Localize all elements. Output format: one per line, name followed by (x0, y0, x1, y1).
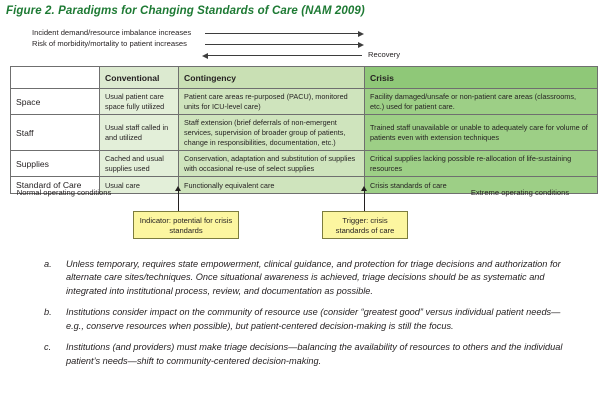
cell-supplies-contingency: Conservation, adaptation and substitutio… (179, 151, 365, 177)
axis-arrow-block: Incident demand/resource imbalance incre… (0, 28, 607, 64)
demand-axis-label: Incident demand/resource imbalance incre… (32, 28, 191, 37)
demand-arrow-head-icon (358, 31, 364, 37)
list-item: b. Institutions consider impact on the c… (44, 306, 564, 333)
cell-supplies-conventional: Cached and usual supplies used (100, 151, 179, 177)
cell-standard-contingency: Functionally equivalent care (179, 177, 365, 194)
row-label-space: Space (11, 89, 100, 115)
table-row: Space Usual patient care space fully uti… (11, 89, 598, 115)
column-header-blank (11, 67, 100, 89)
demand-arrow-line (205, 33, 362, 34)
note-marker-b: b. (44, 306, 66, 333)
cell-space-conventional: Usual patient care space fully utilized (100, 89, 179, 115)
paradigms-table: Conventional Contingency Crisis Space Us… (10, 66, 598, 194)
cell-space-crisis: Facility damaged/unsafe or non-patient c… (365, 89, 598, 115)
trigger-connector-arrow-icon (361, 186, 367, 191)
note-text-b: Institutions consider impact on the comm… (66, 306, 564, 333)
column-header-conventional: Conventional (100, 67, 179, 89)
risk-arrow-head-icon (358, 42, 364, 48)
normal-conditions-label: Normal operating conditions (14, 188, 114, 197)
indicator-connector-arrow-icon (175, 186, 181, 191)
indicator-connector-line (178, 189, 179, 213)
cell-space-contingency: Patient care areas re-purposed (PACU), m… (179, 89, 365, 115)
row-label-supplies: Supplies (11, 151, 100, 177)
risk-axis-label: Risk of morbidity/mortality to patient i… (32, 39, 187, 48)
recovery-axis-label: Recovery (368, 50, 400, 59)
list-item: a. Unless temporary, requires state empo… (44, 258, 564, 298)
callout-indicator: Indicator: potential for crisis standard… (133, 211, 239, 239)
table-header-row: Conventional Contingency Crisis (11, 67, 598, 89)
note-marker-a: a. (44, 258, 66, 298)
cell-supplies-crisis: Critical supplies lacking possible re-al… (365, 151, 598, 177)
cell-staff-conventional: Usual staff called in and utilized (100, 115, 179, 151)
note-marker-c: c. (44, 341, 66, 368)
recovery-arrow-head-icon (202, 53, 208, 59)
note-text-c: Institutions (and providers) must make t… (66, 341, 564, 368)
trigger-connector-line (364, 189, 365, 213)
figure-notes-list: a. Unless temporary, requires state empo… (44, 258, 564, 376)
extreme-conditions-label: Extreme operating conditions (460, 188, 580, 197)
cell-staff-crisis: Trained staff unavailable or unable to a… (365, 115, 598, 151)
column-header-contingency: Contingency (179, 67, 365, 89)
note-text-a: Unless temporary, requires state empower… (66, 258, 564, 298)
table-row: Supplies Cached and usual supplies used … (11, 151, 598, 177)
cell-staff-contingency: Staff extension (brief deferrals of non-… (179, 115, 365, 151)
column-header-crisis: Crisis (365, 67, 598, 89)
risk-arrow-line (205, 44, 362, 45)
list-item: c. Institutions (and providers) must mak… (44, 341, 564, 368)
callout-trigger: Trigger: crisis standards of care (322, 211, 408, 239)
table-row: Staff Usual staff called in and utilized… (11, 115, 598, 151)
page-title: Figure 2. Paradigms for Changing Standar… (6, 5, 365, 17)
recovery-arrow-line (205, 55, 362, 56)
row-label-staff: Staff (11, 115, 100, 151)
